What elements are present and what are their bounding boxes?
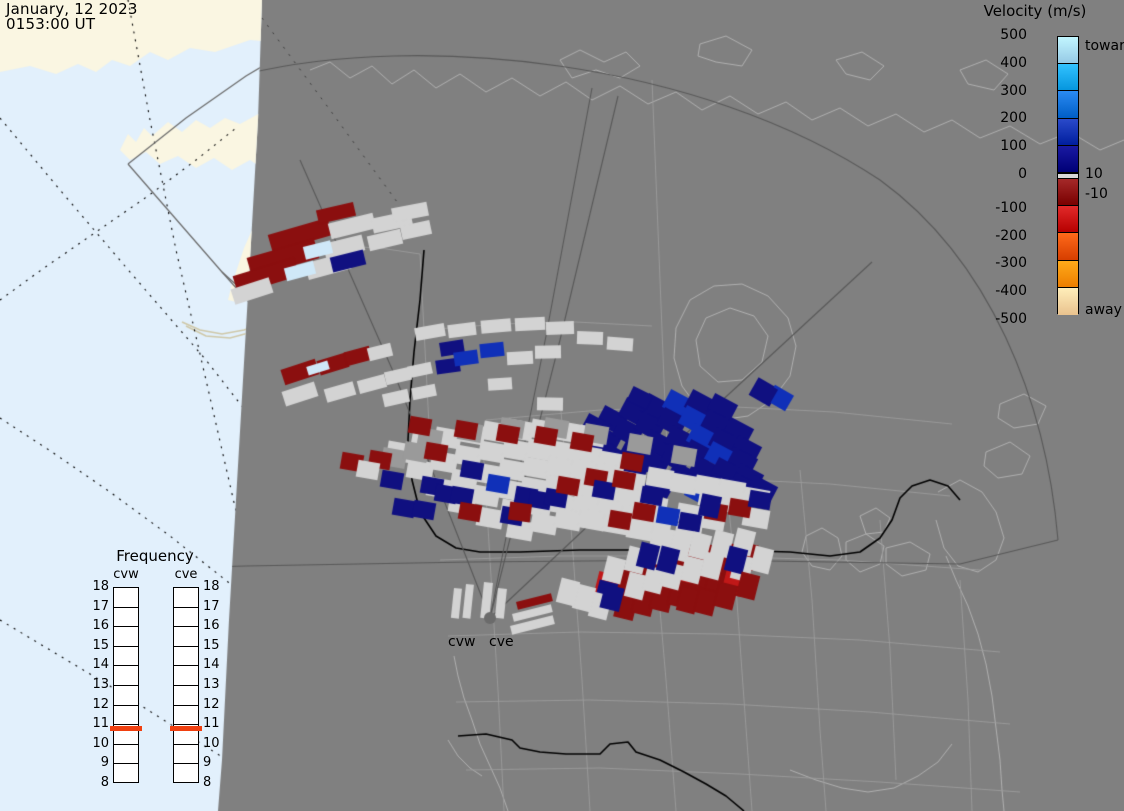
frequency-segment (174, 627, 198, 647)
frequency-segment (114, 647, 138, 667)
frequency-tick-label: 18 (87, 579, 109, 594)
frequency-tick-label: 9 (203, 755, 211, 770)
frequency-marker-cve (170, 726, 202, 731)
frequency-tick-label: 13 (203, 677, 220, 692)
frequency-panel: Frequency cvwcve181817171616151514141313… (85, 545, 235, 795)
frequency-segment (174, 686, 198, 706)
colorbar-band (1058, 146, 1078, 173)
frequency-tick-label: 17 (87, 599, 109, 614)
frequency-tick-label: 14 (87, 657, 109, 672)
frequency-segment (114, 588, 138, 608)
frequency-segment (174, 745, 198, 765)
frequency-tick-label: 15 (203, 638, 220, 653)
radar-site-label-cve: cve (489, 634, 514, 650)
frequency-tick-label: 11 (87, 716, 109, 731)
frequency-segment (174, 706, 198, 726)
frequency-segment (114, 686, 138, 706)
frequency-segment (114, 764, 138, 784)
frequency-segment (114, 745, 138, 765)
frequency-segment (174, 588, 198, 608)
frequency-tick-label: 16 (203, 618, 220, 633)
colorbar-tick-label: 100 (967, 138, 1027, 154)
colorbar-tick-label: 500 (967, 27, 1027, 43)
frequency-tick-label: 13 (87, 677, 109, 692)
colorbar-tick-label: 300 (967, 83, 1027, 99)
frequency-tick-label: 8 (203, 775, 211, 790)
frequency-marker-cvw (110, 726, 142, 731)
colorbar-band (1058, 288, 1078, 315)
colorbar-toward-label: toward (1085, 38, 1124, 54)
frequency-segment (174, 666, 198, 686)
colorbar-band (1058, 64, 1078, 91)
colorbar-tick-label: -200 (967, 228, 1027, 244)
radar-map-view: January, 12 2023 0153:00 UT Velocity (m/… (0, 0, 1124, 811)
velocity-legend-title: Velocity (m/s) (960, 2, 1110, 20)
frequency-segment (114, 666, 138, 686)
colorbar-gradient (1057, 36, 1079, 314)
radar-site-label-cvw: cvw (448, 634, 475, 650)
frequency-tick-label: 15 (87, 638, 109, 653)
timestamp: January, 12 2023 0153:00 UT (6, 2, 138, 32)
colorbar-band (1058, 261, 1078, 288)
frequency-tick-label: 11 (203, 716, 220, 731)
frequency-tick-label: 17 (203, 599, 220, 614)
timestamp-time: 0153:00 UT (6, 17, 138, 32)
frequency-tick-label: 10 (203, 736, 220, 751)
colorbar-away-label: away (1085, 302, 1122, 318)
frequency-column-cvw (113, 587, 139, 783)
frequency-segment (114, 706, 138, 726)
frequency-column-cve (173, 587, 199, 783)
frequency-segment (174, 608, 198, 628)
frequency-tick-label: 9 (87, 755, 109, 770)
frequency-panel-title: Frequency (85, 547, 225, 565)
frequency-tick-label: 14 (203, 657, 220, 672)
colorbar-tick-label: -500 (967, 311, 1027, 327)
colorbar-band (1058, 37, 1078, 64)
frequency-tick-label: 8 (87, 775, 109, 790)
frequency-segment (174, 647, 198, 667)
colorbar-band (1058, 179, 1078, 206)
frequency-tick-label: 12 (203, 697, 220, 712)
colorbar-band (1058, 119, 1078, 146)
frequency-segment (174, 764, 198, 784)
frequency-column-label-cvw: cvw (103, 567, 149, 582)
colorbar-threshold-low-label: -10 (1085, 186, 1108, 202)
colorbar-band (1058, 91, 1078, 118)
colorbar-tick-label: 400 (967, 55, 1027, 71)
frequency-tick-label: 10 (87, 736, 109, 751)
frequency-tick-label: 18 (203, 579, 220, 594)
colorbar-tick-label: -300 (967, 255, 1027, 271)
frequency-tick-label: 12 (87, 697, 109, 712)
colorbar-band (1058, 233, 1078, 260)
colorbar-tick-label: -100 (967, 200, 1027, 216)
colorbar-tick-label: 0 (967, 166, 1027, 182)
colorbar-tick-label: 200 (967, 110, 1027, 126)
colorbar-band (1058, 206, 1078, 233)
colorbar-threshold-high-label: 10 (1085, 166, 1103, 182)
frequency-segment (114, 608, 138, 628)
frequency-segment (114, 627, 138, 647)
colorbar-tick-label: -400 (967, 283, 1027, 299)
frequency-tick-label: 16 (87, 618, 109, 633)
